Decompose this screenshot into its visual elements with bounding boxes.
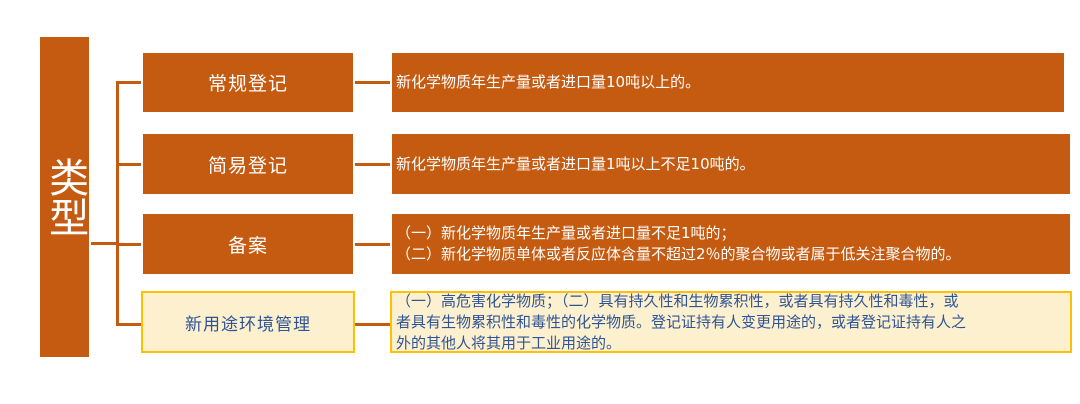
classification-diagram: 类型 常规登记 新化学物质年生产量或者进口量10吨以上的。 简易登记 新化学物质… bbox=[0, 0, 1080, 404]
category-node-1[interactable]: 简易登记 bbox=[141, 132, 355, 196]
connector-link-1 bbox=[354, 163, 392, 166]
description-line: （二）新化学物质单体或者反应体含量不超过2％的聚合物或者属于低关注聚合物的。 bbox=[396, 244, 1070, 265]
description-line: 新化学物质年生产量或者进口量10吨以上的。 bbox=[396, 72, 1064, 93]
connector-branch-2 bbox=[116, 243, 143, 246]
connector-link-3 bbox=[354, 323, 392, 326]
description-node-3[interactable]: （一）高危害化学物质；（二）具有持久性和生物累积性，或者具有持久性和毒性，或 者… bbox=[390, 291, 1072, 353]
category-label-0: 常规登记 bbox=[208, 69, 288, 96]
category-label-1: 简易登记 bbox=[208, 151, 288, 178]
category-label-3: 新用途环境管理 bbox=[185, 310, 311, 335]
description-node-1[interactable]: 新化学物质年生产量或者进口量1吨以上不足10吨的。 bbox=[390, 132, 1072, 196]
description-line: 外的其他人将其用于工业用途的。 bbox=[396, 333, 1068, 354]
connector-trunk bbox=[116, 81, 119, 326]
connector-branch-3 bbox=[116, 323, 143, 326]
description-line: （一）新化学物质年生产量或者进口量不足1吨的； bbox=[396, 223, 1070, 244]
category-node-2[interactable]: 备案 bbox=[141, 212, 355, 276]
description-line: 新化学物质年生产量或者进口量1吨以上不足10吨的。 bbox=[396, 154, 1070, 175]
description-line: （一）高危害化学物质；（二）具有持久性和生物累积性，或者具有持久性和毒性，或 bbox=[396, 291, 1068, 312]
connector-branch-1 bbox=[116, 163, 143, 166]
connector-branch-0 bbox=[116, 81, 143, 84]
category-node-3[interactable]: 新用途环境管理 bbox=[141, 291, 355, 353]
category-label-2: 备案 bbox=[228, 231, 268, 258]
description-node-2[interactable]: （一）新化学物质年生产量或者进口量不足1吨的； （二）新化学物质单体或者反应体含… bbox=[390, 212, 1072, 276]
description-line: 者具有生物累积性和毒性的化学物质。登记证持有人变更用途的，或者登记证持有人之 bbox=[396, 312, 1068, 333]
root-node-label: 类型 bbox=[43, 157, 86, 237]
connector-link-2 bbox=[354, 243, 392, 246]
connector-link-0 bbox=[354, 81, 392, 84]
description-node-0[interactable]: 新化学物质年生产量或者进口量10吨以上的。 bbox=[390, 51, 1066, 114]
category-node-0[interactable]: 常规登记 bbox=[141, 51, 355, 114]
connector-root-stub bbox=[91, 242, 119, 245]
root-node-type[interactable]: 类型 bbox=[38, 35, 91, 359]
